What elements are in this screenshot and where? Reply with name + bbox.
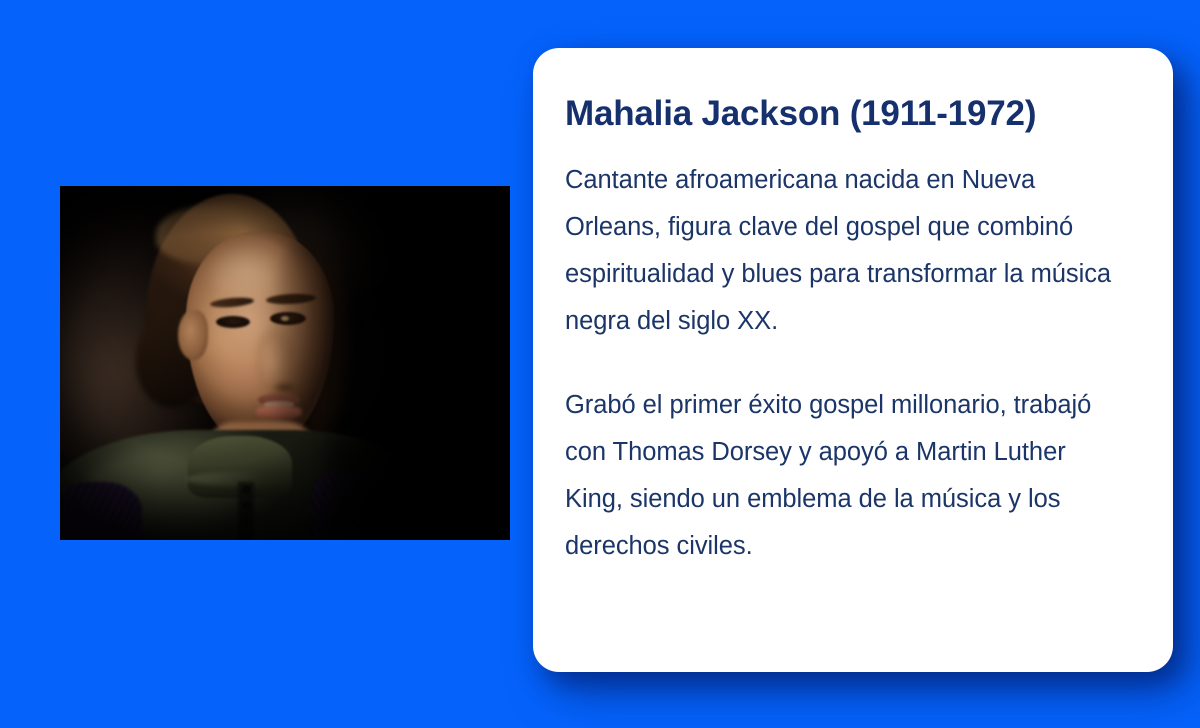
portrait-photo <box>60 186 510 540</box>
photo-vignette <box>60 186 510 540</box>
slide-canvas: Mahalia Jackson (1911-1972) Cantante afr… <box>0 0 1200 728</box>
info-card-content: Mahalia Jackson (1911-1972) Cantante afr… <box>565 94 1121 570</box>
biography-text: Cantante afroamericana nacida en Nueva O… <box>565 157 1121 570</box>
biography-paragraph: Cantante afroamericana nacida en Nueva O… <box>565 157 1121 345</box>
portrait-image <box>60 186 510 540</box>
page-title: Mahalia Jackson (1911-1972) <box>565 94 1121 135</box>
info-card: Mahalia Jackson (1911-1972) Cantante afr… <box>533 48 1173 672</box>
biography-paragraph: Grabó el primer éxito gospel millonario,… <box>565 382 1121 570</box>
